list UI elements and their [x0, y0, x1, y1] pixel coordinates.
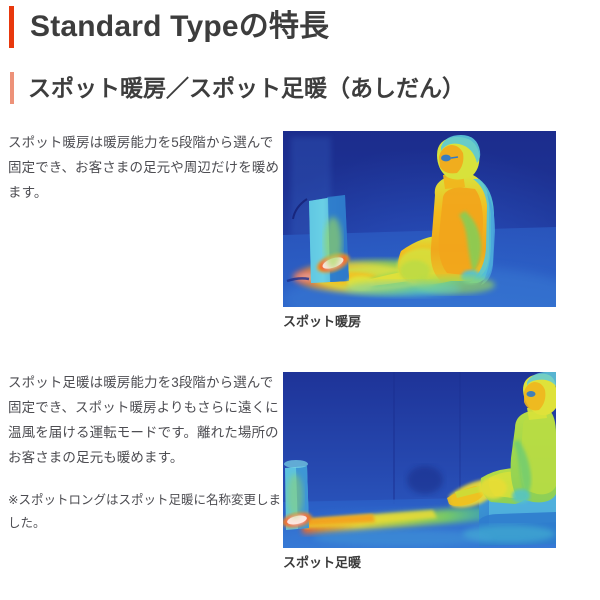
- section-2-body-text: スポット足暖は暖房能力を3段階から選んで固定でき、スポット暖房よりもさらに遠くに…: [8, 371, 280, 471]
- main-heading-accent-bar: [9, 6, 14, 48]
- figure-spot-foot-heating: スポット足暖: [283, 372, 556, 571]
- thermal-image-spot-heating-graphic: [283, 131, 556, 307]
- main-heading-text: Standard Typeの特長: [30, 12, 329, 42]
- page-root: Standard Typeの特長 スポット暖房／スポット足暖（あしだん） スポッ…: [0, 0, 600, 600]
- sub-heading-text: スポット暖房／スポット足暖（あしだん）: [28, 77, 465, 100]
- thermal-image-spot-heating: [283, 131, 556, 307]
- figure-spot-heating: スポット暖房: [283, 131, 556, 330]
- section-2-note-text: ※スポットロングはスポット足暖に名称変更しました。: [8, 489, 286, 534]
- sub-heading: スポット暖房／スポット足暖（あしだん）: [0, 72, 465, 104]
- sub-heading-accent-bar: [10, 72, 14, 104]
- section-1-body-text: スポット暖房は暖房能力を5段階から選んで固定でき、お客さまの足元や周辺だけを暖め…: [8, 131, 280, 206]
- thermal-image-spot-foot-heating-graphic: [283, 372, 556, 548]
- note-text: ※スポットロングはスポット足暖に名称変更しました。: [8, 489, 286, 534]
- figure-2-caption: スポット足暖: [283, 555, 556, 571]
- figure-1-caption: スポット暖房: [283, 314, 556, 330]
- thermal-image-spot-foot-heating: [283, 372, 556, 548]
- main-heading: Standard Typeの特長: [0, 6, 329, 48]
